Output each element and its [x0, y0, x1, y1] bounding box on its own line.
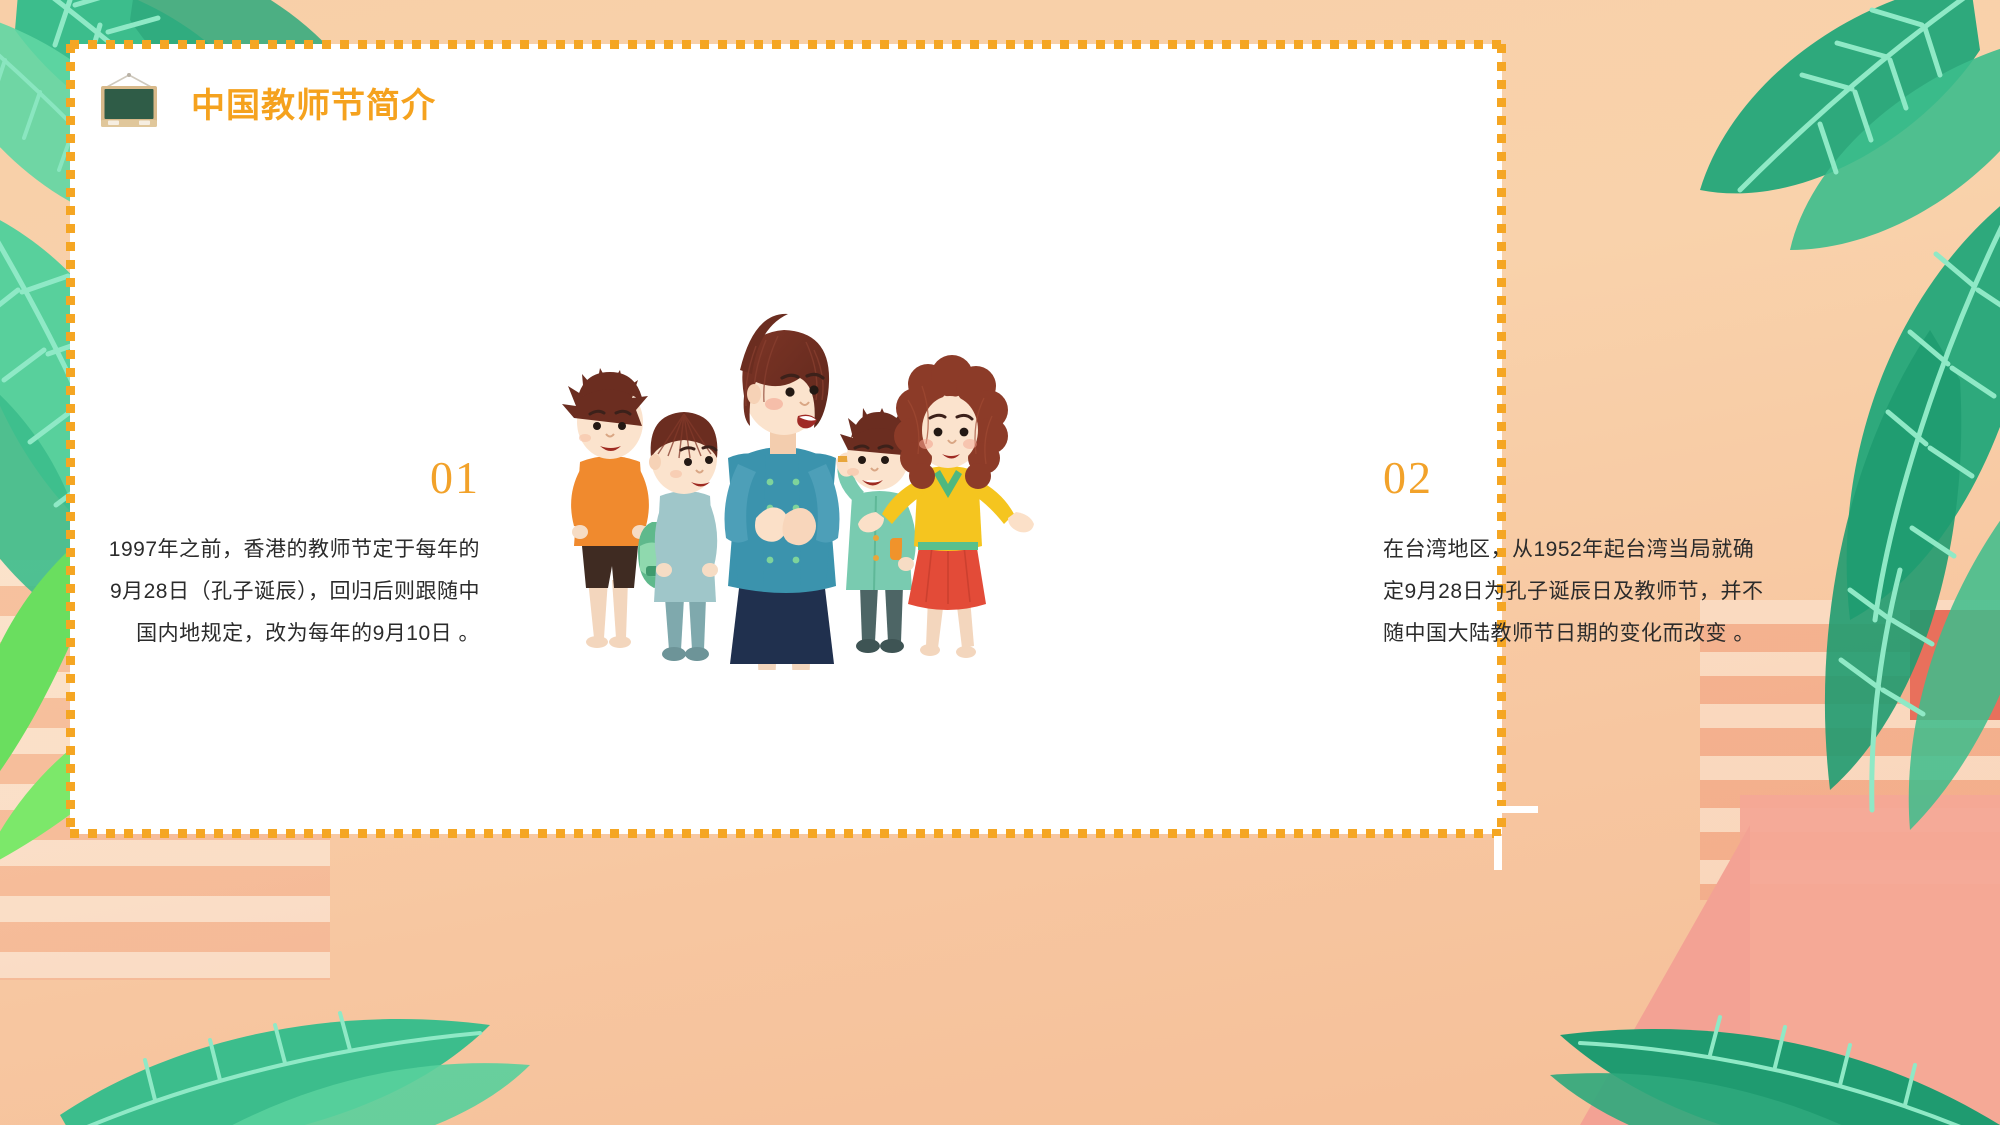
edge-tick-mark-upper	[1484, 806, 1538, 813]
column-body-02: 在台湾地区，从1952年起台湾当局就确定9月28日为孔子诞辰日及教师节，并不随中…	[1383, 529, 1773, 655]
boy-with-backpack	[638, 412, 718, 661]
teacher-woman	[725, 314, 840, 670]
edge-tick-mark-lower	[1494, 836, 1502, 870]
content-column-01: 01 1997年之前，香港的教师节定于每年的9月28日（孔子诞辰），回归后则跟随…	[100, 455, 480, 655]
leaf-cluster-bottom-left	[60, 915, 580, 1125]
slide-header: 中国教师节简介	[95, 72, 436, 132]
column-number-02: 02	[1383, 455, 1773, 501]
teacher-with-students-illustration	[560, 250, 1060, 670]
column-body-01: 1997年之前，香港的教师节定于每年的9月28日（孔子诞辰），回归后则跟随中国内…	[100, 529, 480, 655]
chalkboard-icon	[95, 72, 163, 132]
content-column-02: 02 在台湾地区，从1952年起台湾当局就确定9月28日为孔子诞辰日及教师节，并…	[1383, 455, 1773, 655]
leaf-cluster-bottom-right	[1500, 905, 2000, 1125]
column-number-01: 01	[100, 455, 480, 501]
boy-orange-sweater	[562, 368, 649, 648]
page-title: 中国教师节简介	[191, 78, 436, 127]
